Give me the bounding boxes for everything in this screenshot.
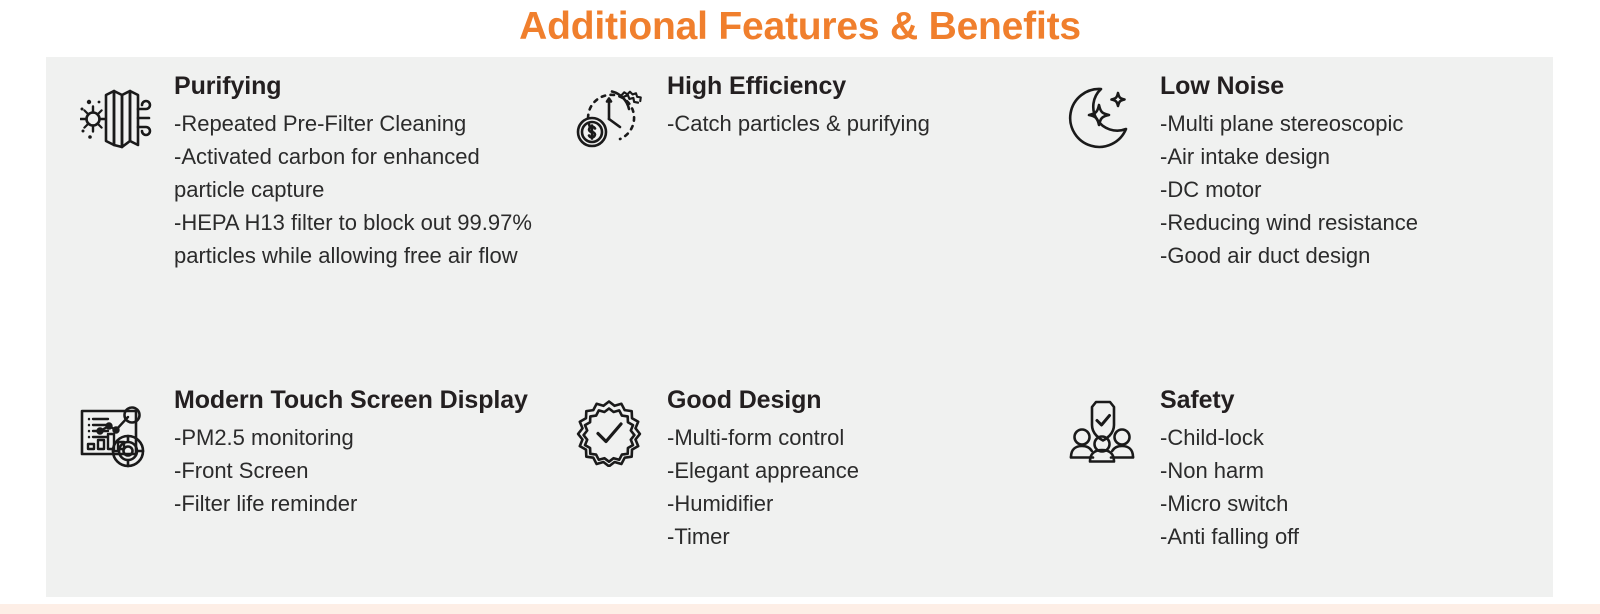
feature-body: High Efficiency -Catch particles & purif… (655, 67, 930, 140)
feature-item: -Air intake design (1160, 140, 1418, 173)
feature-item: -Multi plane stereoscopic (1160, 107, 1418, 140)
feature-item: -HEPA H13 filter to block out 99.97% par… (174, 206, 554, 272)
feature-title: Modern Touch Screen Display (174, 381, 528, 419)
features-panel: Purifying -Repeated Pre-Filter Cleaning … (46, 57, 1553, 597)
feature-title: Low Noise (1160, 67, 1418, 105)
feature-item-list: -Child-lock -Non harm -Micro switch -Ant… (1160, 421, 1299, 553)
bottom-accent-bar (0, 604, 1600, 614)
feature-body: Purifying -Repeated Pre-Filter Cleaning … (162, 67, 554, 272)
feature-item: -Catch particles & purifying (667, 107, 930, 140)
feature-item-list: -Multi plane stereoscopic -Air intake de… (1160, 107, 1418, 272)
feature-item: -Non harm (1160, 454, 1299, 487)
moon-sparkle-icon (1056, 67, 1148, 159)
feature-item: -Good air duct design (1160, 239, 1418, 272)
feature-item-list: -Catch particles & purifying (667, 107, 930, 140)
feature-card-touch-screen-display: Modern Touch Screen Display -PM2.5 monit… (70, 381, 528, 520)
feature-item: -Anti falling off (1160, 520, 1299, 553)
air-filter-icon (70, 67, 162, 159)
feature-item: -Child-lock (1160, 421, 1299, 454)
feature-item-list: -Repeated Pre-Filter Cleaning -Activated… (174, 107, 554, 272)
features-grid: Purifying -Repeated Pre-Filter Cleaning … (46, 57, 1553, 597)
feature-card-high-efficiency: High Efficiency -Catch particles & purif… (563, 67, 930, 159)
feature-item-list: -Multi-form control -Elegant appreance -… (667, 421, 859, 553)
clock-gear-coin-icon (563, 67, 655, 159)
feature-item: -Micro switch (1160, 487, 1299, 520)
feature-card-purifying: Purifying -Repeated Pre-Filter Cleaning … (70, 67, 554, 272)
feature-item: -Timer (667, 520, 859, 553)
feature-item-list: -PM2.5 monitoring -Front Screen -Filter … (174, 421, 528, 520)
feature-card-safety: Safety -Child-lock -Non harm -Micro swit… (1056, 381, 1299, 553)
feature-item: -Activated carbon for enhanced particle … (174, 140, 554, 206)
feature-card-low-noise: Low Noise -Multi plane stereoscopic -Air… (1056, 67, 1418, 272)
feature-title: High Efficiency (667, 67, 930, 105)
feature-body: Safety -Child-lock -Non harm -Micro swit… (1148, 381, 1299, 553)
badge-check-icon (563, 381, 655, 473)
feature-body: Low Noise -Multi plane stereoscopic -Air… (1148, 67, 1418, 272)
feature-body: Modern Touch Screen Display -PM2.5 monit… (162, 381, 528, 520)
feature-item: -Multi-form control (667, 421, 859, 454)
feature-body: Good Design -Multi-form control -Elegant… (655, 381, 859, 553)
dashboard-analytics-icon (70, 381, 162, 473)
feature-title: Purifying (174, 67, 554, 105)
feature-title: Safety (1160, 381, 1299, 419)
page-title: Additional Features & Benefits (0, 0, 1600, 52)
feature-item: -PM2.5 monitoring (174, 421, 528, 454)
feature-item: -Reducing wind resistance (1160, 206, 1418, 239)
feature-item: -Humidifier (667, 487, 859, 520)
feature-item: -Repeated Pre-Filter Cleaning (174, 107, 554, 140)
feature-item: -Front Screen (174, 454, 528, 487)
feature-item: -Filter life reminder (174, 487, 528, 520)
feature-item: -DC motor (1160, 173, 1418, 206)
feature-item: -Elegant appreance (667, 454, 859, 487)
feature-card-good-design: Good Design -Multi-form control -Elegant… (563, 381, 859, 553)
feature-title: Good Design (667, 381, 859, 419)
shield-family-icon (1056, 381, 1148, 473)
